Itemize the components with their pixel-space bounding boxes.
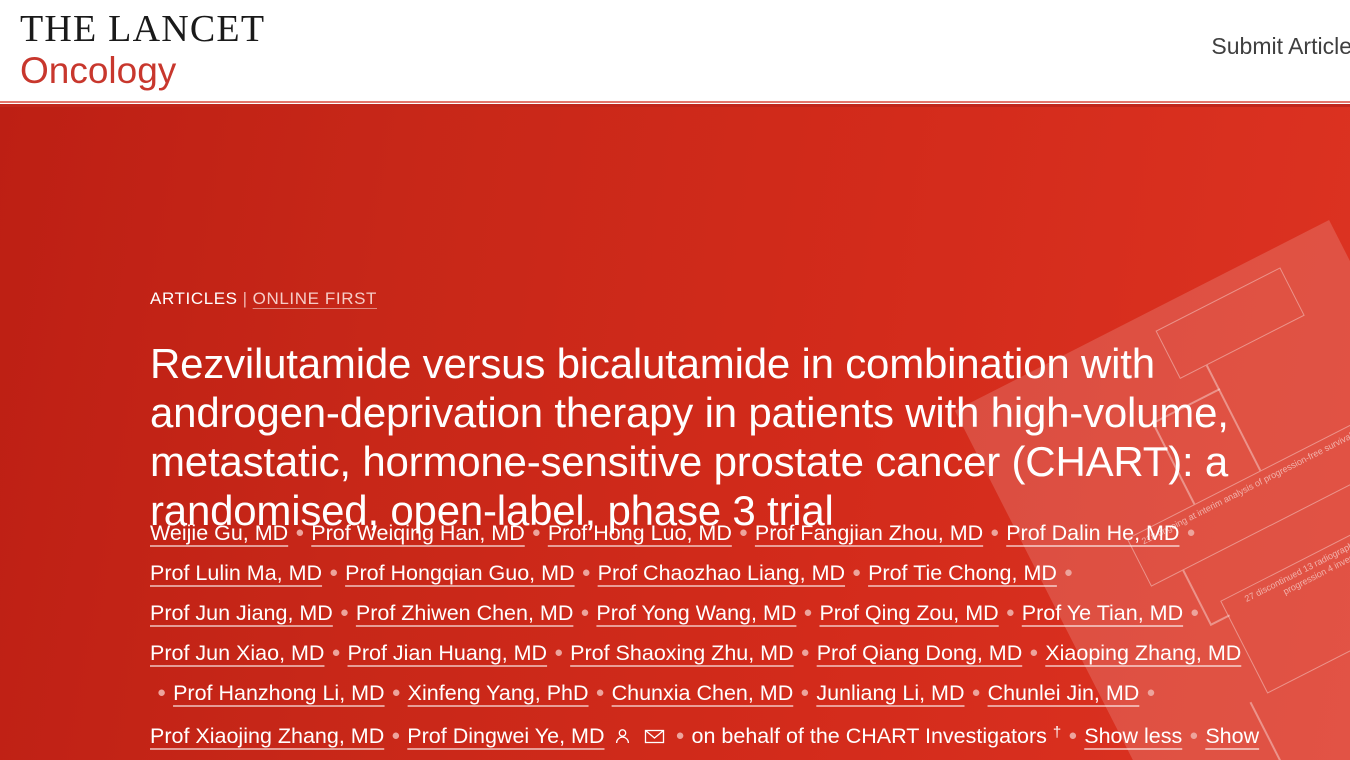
author-separator-bullet: ● — [157, 673, 166, 712]
author-link[interactable]: Xinfeng Yang, PhD — [408, 681, 589, 705]
author-separator-bullet: ● — [1006, 593, 1015, 632]
author-link[interactable]: Chunxia Chen, MD — [612, 681, 794, 705]
author-link[interactable]: Xiaoping Zhang, MD — [1045, 641, 1241, 665]
author-link[interactable]: Prof Tie Chong, MD — [868, 561, 1057, 585]
author-separator-bullet: ● — [675, 716, 684, 755]
author-link[interactable]: Prof Hong Luo, MD — [548, 521, 732, 545]
author-separator-bullet: ● — [391, 716, 400, 755]
author-separator-bullet: ● — [801, 633, 810, 672]
author-link[interactable]: Prof Xiaojing Zhang, MD — [150, 724, 384, 748]
article-banner-page: THE LANCET Oncology Submit Article 218 o… — [0, 0, 1350, 760]
masthead-the-lancet: THE LANCET — [20, 10, 265, 48]
author-link[interactable]: Prof Lulin Ma, MD — [150, 561, 322, 585]
author-separator-bullet: ● — [295, 513, 304, 552]
author-link[interactable]: Prof Ye Tian, MD — [1022, 601, 1183, 625]
author-link[interactable]: Prof Dingwei Ye, MD — [407, 724, 604, 748]
author-separator-bullet: ● — [803, 593, 812, 632]
author-link[interactable]: Prof Hongqian Guo, MD — [345, 561, 574, 585]
author-separator-bullet: ● — [340, 593, 349, 632]
kicker-section[interactable]: ARTICLES — [150, 289, 238, 308]
author-separator-bullet: ● — [532, 513, 541, 552]
author-list: Weijie Gu, MD●Prof Weiqing Han, MD●Prof … — [150, 513, 1260, 760]
author-separator-bullet: ● — [800, 673, 809, 712]
person-icon[interactable] — [613, 720, 632, 759]
author-link[interactable]: Prof Hanzhong Li, MD — [173, 681, 385, 705]
author-separator-bullet: ● — [1189, 716, 1198, 755]
show-less-link[interactable]: Show less — [1084, 724, 1182, 748]
kicker-online-first[interactable]: ONLINE FIRST — [253, 289, 377, 308]
author-separator-bullet: ● — [329, 553, 338, 592]
author-separator-bullet: ● — [852, 553, 861, 592]
article-hero-banner: 218 ongoing at interim analysis of progr… — [0, 107, 1350, 760]
author-link[interactable]: Prof Qing Zou, MD — [819, 601, 998, 625]
author-link[interactable]: Prof Qiang Dong, MD — [817, 641, 1023, 665]
author-link[interactable]: Junliang Li, MD — [816, 681, 964, 705]
submit-article-link[interactable]: Submit Article — [1211, 33, 1350, 60]
author-link[interactable]: Weijie Gu, MD — [150, 521, 288, 545]
author-link[interactable]: Prof Jian Huang, MD — [348, 641, 548, 665]
envelope-icon[interactable] — [644, 720, 665, 759]
author-link[interactable]: Prof Weiqing Han, MD — [311, 521, 525, 545]
masthead-oncology: Oncology — [20, 50, 265, 93]
article-kicker: ARTICLES|ONLINE FIRST — [150, 289, 377, 309]
footnote-marker[interactable]: † — [1053, 724, 1061, 741]
author-separator-bullet: ● — [1029, 633, 1038, 672]
author-link[interactable]: Prof Shaoxing Zhu, MD — [570, 641, 793, 665]
author-separator-bullet: ● — [1186, 513, 1195, 552]
author-link[interactable]: Chunlei Jin, MD — [988, 681, 1140, 705]
journal-masthead[interactable]: THE LANCET Oncology — [20, 10, 265, 93]
author-separator-bullet: ● — [331, 633, 340, 672]
author-separator-bullet: ● — [596, 673, 605, 712]
article-title: Rezvilutamide versus bicalutamide in com… — [150, 339, 1255, 535]
author-link[interactable]: Prof Zhiwen Chen, MD — [356, 601, 573, 625]
author-link[interactable]: Prof Fangjian Zhou, MD — [755, 521, 983, 545]
kicker-separator: | — [243, 289, 248, 308]
author-separator-bullet: ● — [582, 553, 591, 592]
author-separator-bullet: ● — [972, 673, 981, 712]
author-separator-bullet: ● — [392, 673, 401, 712]
author-link[interactable]: Prof Jun Jiang, MD — [150, 601, 333, 625]
header-rule-light — [0, 101, 1350, 103]
author-separator-bullet: ● — [1068, 716, 1077, 755]
author-link[interactable]: Prof Dalin He, MD — [1006, 521, 1179, 545]
author-separator-bullet: ● — [580, 593, 589, 632]
author-separator-bullet: ● — [1190, 593, 1199, 632]
author-link[interactable]: Prof Jun Xiao, MD — [150, 641, 324, 665]
author-link[interactable]: Prof Chaozhao Liang, MD — [598, 561, 845, 585]
author-separator-bullet: ● — [1064, 553, 1073, 592]
author-link[interactable]: Prof Yong Wang, MD — [596, 601, 796, 625]
group-attribution: on behalf of the CHART Investigators — [692, 724, 1053, 748]
author-separator-bullet: ● — [554, 633, 563, 672]
site-header: THE LANCET Oncology Submit Article — [0, 0, 1350, 104]
author-separator-bullet: ● — [990, 513, 999, 552]
author-separator-bullet: ● — [1146, 673, 1155, 712]
author-separator-bullet: ● — [739, 513, 748, 552]
